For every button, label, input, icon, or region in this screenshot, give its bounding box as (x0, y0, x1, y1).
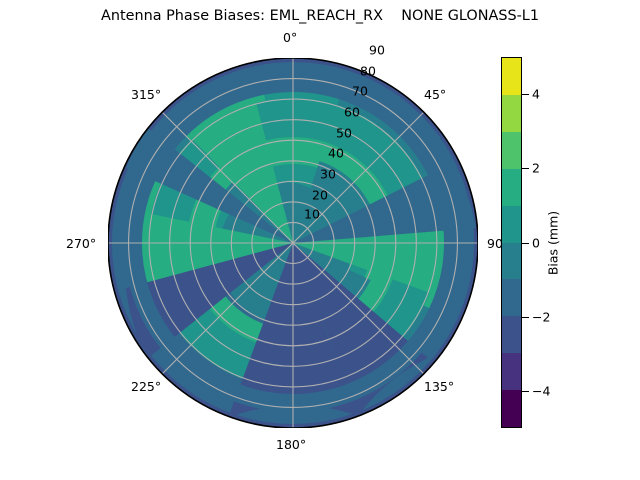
polar-grid (108, 58, 478, 428)
angular-label-0: 0° (283, 30, 297, 45)
angular-label-225: 225° (131, 379, 161, 394)
angular-label-45: 45° (424, 87, 446, 102)
colorbar-ticklabel-neg2: −2 (532, 310, 550, 325)
colorbar-segment-8 (502, 316, 521, 353)
colorbar-segment-10 (502, 390, 521, 427)
colorbar-segment-2 (502, 95, 521, 132)
colorbar-tick-neg4 (522, 391, 529, 392)
colorbar-ticklabel-2: 2 (532, 161, 540, 176)
polar-axes (108, 58, 478, 428)
angular-label-180: 180° (276, 437, 306, 452)
label-clip-mask (479, 228, 487, 258)
angular-label-315: 315° (131, 87, 161, 102)
colorbar-segment-4 (502, 169, 521, 206)
page-title: Antenna Phase Biases: EML_REACH_RX NONE … (0, 8, 640, 24)
colorbar-tick-2 (522, 168, 529, 169)
colorbar-tick-neg2 (522, 317, 529, 318)
colorbar-ticklabel-0: 0 (532, 236, 540, 251)
colorbar-segment-6 (502, 243, 521, 280)
colorbar-ticklabel-4: 4 (532, 87, 540, 102)
colorbar-segment-1 (502, 58, 521, 95)
polar-contour-plot (108, 58, 478, 428)
colorbar-segment-3 (502, 132, 521, 169)
colorbar-tick-0 (522, 243, 529, 244)
colorbar-ticklabel-neg4: −4 (532, 384, 550, 399)
colorbar-segment-7 (502, 279, 521, 316)
colorbar-axis-label: Bias (mm) (546, 211, 561, 275)
angular-label-135: 135° (424, 379, 454, 394)
colorbar[interactable] (501, 57, 522, 428)
colorbar-segment-9 (502, 353, 521, 390)
polar-contour-figure: Antenna Phase Biases: EML_REACH_RX NONE … (0, 0, 640, 480)
colorbar-segment-5 (502, 206, 521, 243)
angular-label-270: 270° (66, 236, 96, 251)
radial-label-90: 90 (369, 43, 385, 58)
colorbar-tick-4 (522, 94, 529, 95)
